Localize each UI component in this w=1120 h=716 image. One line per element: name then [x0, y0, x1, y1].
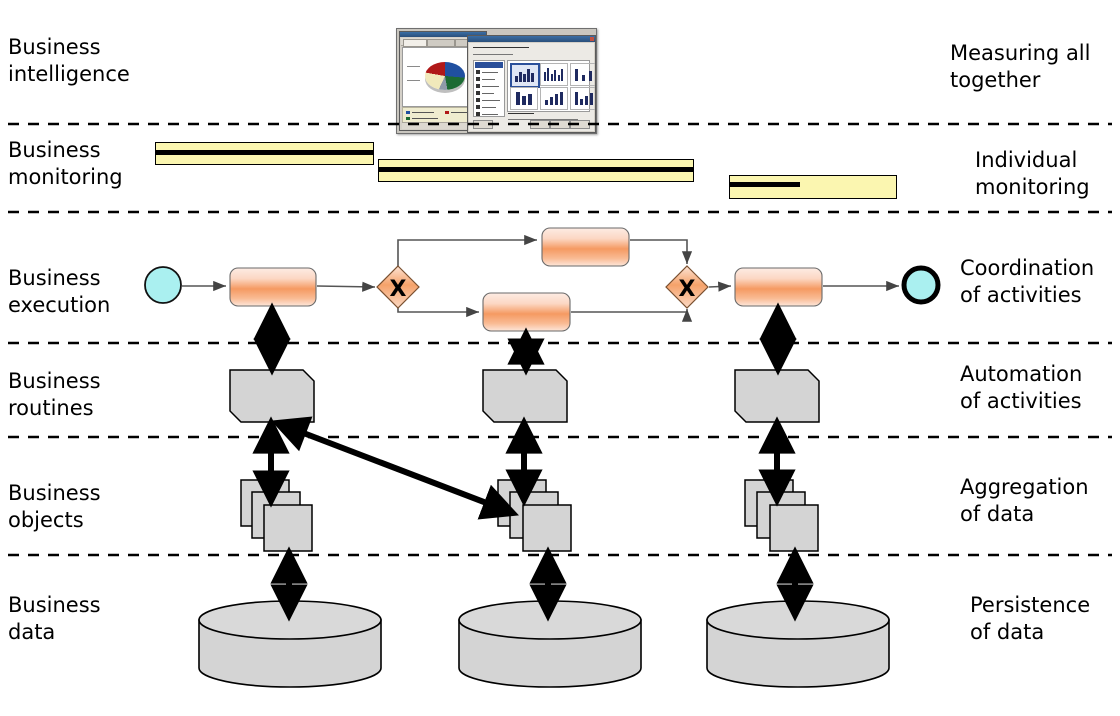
gateway-split[interactable]: X	[377, 266, 419, 308]
dialog-help-button[interactable]	[473, 120, 493, 129]
chart-thumb[interactable]	[510, 87, 538, 110]
sequence-flows	[182, 240, 899, 312]
gateway-join[interactable]: X	[666, 266, 708, 308]
flow-lower-to-join	[571, 309, 687, 312]
flow-join-to-last	[709, 286, 731, 287]
row-purpose-persistence-of-data: Persistence of data	[970, 592, 1110, 646]
chart-thumb[interactable]	[570, 87, 596, 110]
row-label-business-objects: Business objects	[8, 480, 101, 534]
task-last[interactable]	[735, 268, 822, 306]
row-label-business-execution: Business execution	[8, 265, 110, 319]
row-purpose-measuring-all-together: Measuring all together	[950, 40, 1110, 94]
chart-thumb[interactable]	[540, 87, 568, 110]
row-purpose-coordination-of-activities: Coordination of activities	[960, 255, 1110, 309]
row-label-business-data: Business data	[8, 592, 101, 646]
connector-routine1-objects2-diagonal	[280, 424, 510, 512]
row-label-business-intelligence: Business intelligence	[8, 34, 130, 88]
close-icon[interactable]	[590, 37, 594, 41]
task-1[interactable]	[230, 268, 316, 306]
row-purpose-aggregation-of-data: Aggregation of data	[960, 474, 1110, 528]
chart-type-gallery[interactable]	[507, 60, 590, 112]
objects-3[interactable]	[745, 480, 818, 551]
layer-divider-lines	[8, 124, 1112, 555]
flow-task1-to-split	[317, 286, 375, 287]
gateway-join-marker: X	[679, 277, 696, 302]
flow-upper-to-join	[630, 240, 687, 264]
task-lower-branch[interactable]	[483, 293, 570, 331]
monitoring-bar-2	[378, 159, 694, 182]
chart-thumb[interactable]	[570, 63, 596, 86]
start-event[interactable]	[145, 267, 181, 303]
list-item[interactable]	[475, 62, 503, 68]
row-label-business-routines: Business routines	[8, 368, 101, 422]
routine-3[interactable]	[735, 370, 819, 422]
flow-split-to-lower	[398, 308, 479, 312]
pie-chart-icon	[425, 62, 465, 90]
monitoring-bar-3-line	[730, 182, 800, 187]
vertical-connectors	[271, 312, 795, 612]
chart-type-dialog	[467, 35, 596, 133]
gateway-split-marker: X	[390, 277, 407, 302]
monitoring-bar-1-line	[156, 150, 373, 155]
dialog-back-button[interactable]	[530, 120, 550, 129]
chart-category-list[interactable]	[473, 60, 505, 117]
dialog-titlebar	[468, 36, 595, 42]
task-upper-branch[interactable]	[542, 228, 629, 266]
monitoring-bar-2-line	[379, 167, 693, 172]
flow-split-to-upper	[398, 240, 537, 266]
diagram-canvas: Business intelligence Business monitorin…	[0, 0, 1120, 716]
monitoring-bar-1	[155, 142, 374, 165]
monitoring-bar-3	[729, 175, 897, 199]
dialog-next-button[interactable]	[550, 120, 570, 129]
routine-2[interactable]	[483, 370, 567, 422]
chart-thumb-selected[interactable]	[510, 63, 540, 88]
objects-2[interactable]	[498, 480, 571, 551]
row-purpose-automation-of-activities: Automation of activities	[960, 361, 1110, 415]
row-purpose-individual-monitoring: Individual monitoring	[975, 147, 1110, 201]
row-label-business-monitoring: Business monitoring	[8, 137, 123, 191]
routine-1[interactable]	[230, 370, 314, 422]
objects-1[interactable]	[241, 480, 312, 551]
chart-thumb[interactable]	[540, 63, 568, 86]
bi-screenshot-thumbnail	[396, 28, 597, 134]
dialog-body	[469, 43, 594, 131]
end-event[interactable]	[904, 268, 938, 302]
dialog-cancel-button[interactable]	[570, 120, 590, 129]
